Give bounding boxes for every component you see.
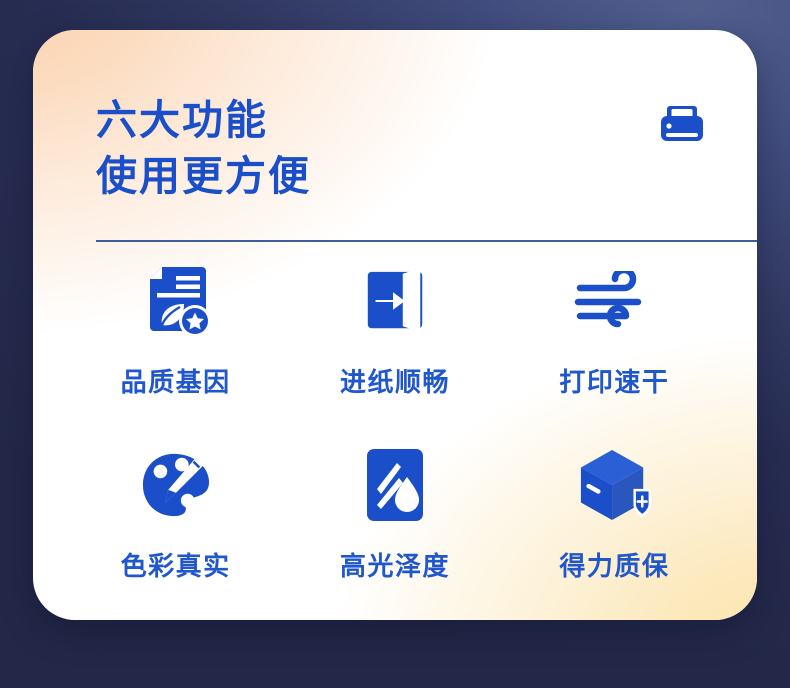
- feature-item-fast-dry: 打印速干: [505, 258, 724, 434]
- feature-label: 打印速干: [559, 362, 669, 399]
- feature-item-paper-feed[interactable]: 进纸顺畅: [285, 258, 504, 434]
- feature-item-gloss: 高光泽度: [285, 442, 504, 618]
- feature-label: 进纸顺畅: [340, 362, 450, 399]
- feature-label: 色彩真实: [121, 546, 231, 583]
- title-line-1: 六大功能: [96, 92, 311, 148]
- arrow-into-door-icon: [360, 258, 430, 344]
- card-header: 六大功能 使用更方便: [96, 70, 717, 220]
- feature-item-quality[interactable]: 品质基因: [66, 258, 285, 434]
- feature-card: 六大功能 使用更方便: [33, 30, 757, 620]
- box-shield-icon: [577, 442, 651, 528]
- printer-icon: [659, 106, 705, 148]
- wind-lines-icon: [574, 258, 654, 344]
- feature-label: 高光泽度: [340, 546, 450, 583]
- page-title: 六大功能 使用更方便: [96, 92, 311, 204]
- feature-grid: 品质基因 进纸顺畅: [66, 258, 724, 618]
- header-divider: [96, 240, 757, 242]
- feature-label: 得力质保: [559, 546, 669, 583]
- feature-label: 品质基因: [121, 362, 231, 399]
- feature-item-warranty[interactable]: 得力质保: [505, 442, 724, 618]
- paint-palette-brush-icon: [139, 442, 213, 528]
- feature-item-true-color[interactable]: 色彩真实: [66, 442, 285, 618]
- document-leaf-star-icon: [140, 258, 212, 344]
- title-line-2: 使用更方便: [96, 148, 311, 204]
- gloss-droplet-icon: [367, 442, 423, 528]
